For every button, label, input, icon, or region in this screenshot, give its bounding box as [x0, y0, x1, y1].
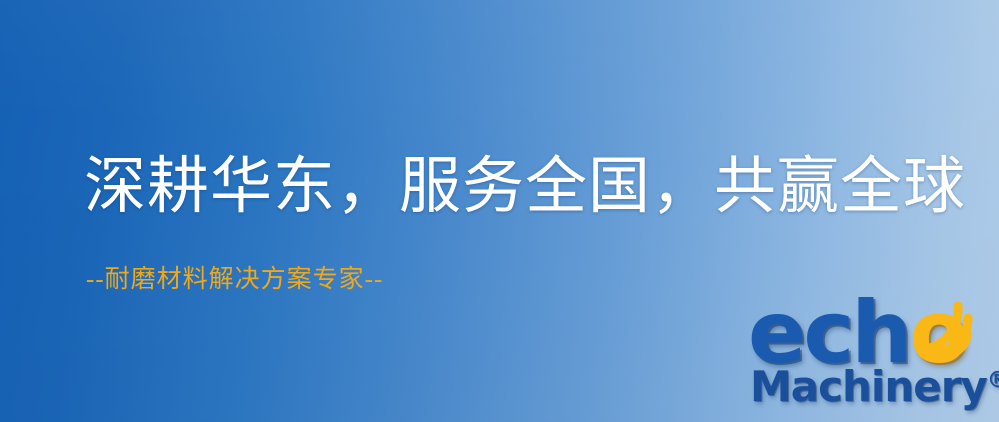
logo-wordmark-machinery: Machinery® — [750, 366, 999, 408]
echo-machinery-logo: echo Machinery® — [748, 296, 996, 422]
banner-headline: 深耕华东，服务全国，共赢全球 — [84, 155, 966, 220]
banner-subtitle: --耐磨材料解决方案专家-- — [86, 266, 383, 294]
signal-waves-icon — [908, 292, 982, 356]
logo-text-machinery: Machinery — [750, 362, 987, 411]
registered-trademark-icon: ® — [987, 368, 999, 393]
promotional-banner: 深耕华东，服务全国，共赢全球 --耐磨材料解决方案专家-- echo Machi… — [0, 0, 999, 422]
